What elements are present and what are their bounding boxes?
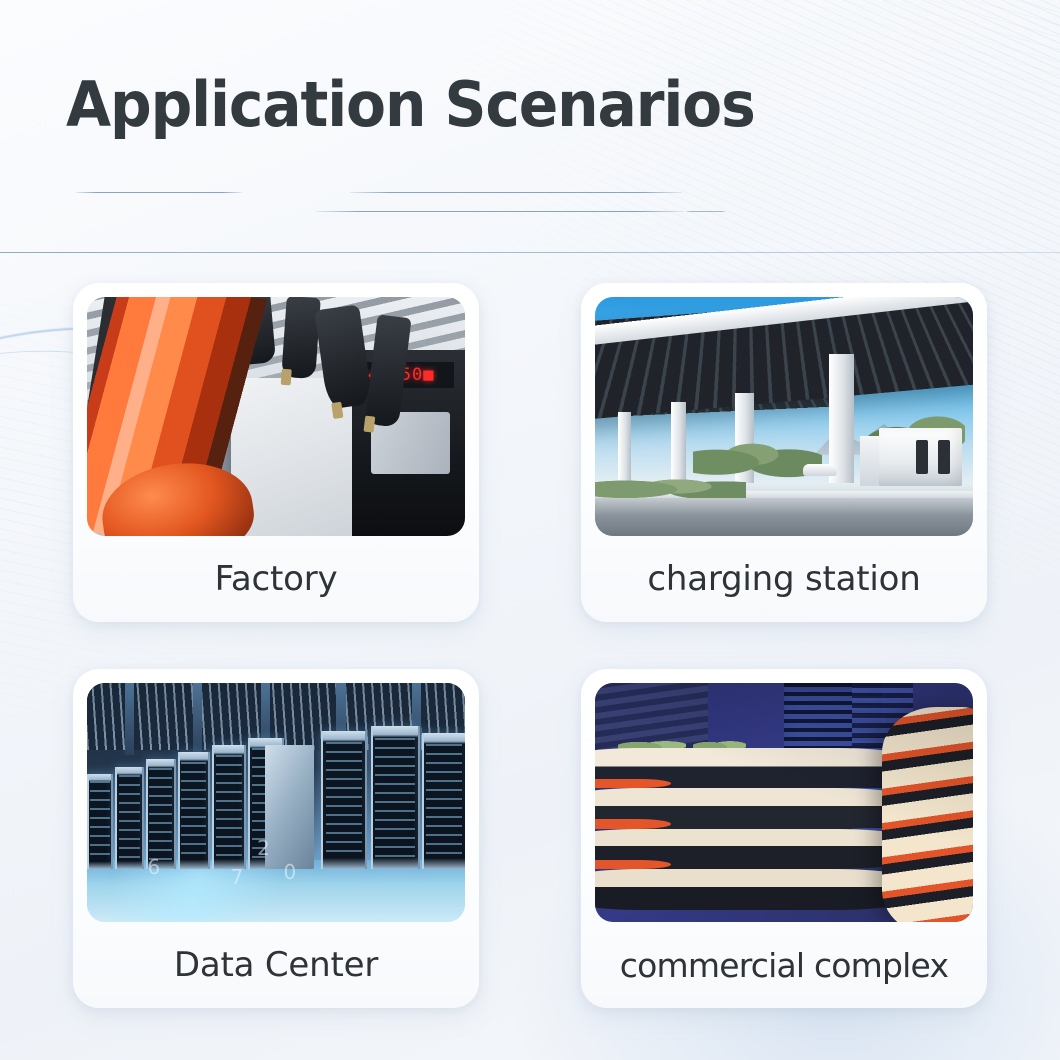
card-label-data-center: Data Center <box>87 922 465 1008</box>
scenario-card-factory[interactable]: ◀D150■ Factory <box>73 283 479 622</box>
card-label-factory: Factory <box>87 536 465 622</box>
page-header: Application Scenarios <box>0 0 1060 252</box>
scenario-card-charging-station[interactable]: charging station <box>581 283 987 622</box>
scenario-card-commercial-complex[interactable]: commercial complex <box>581 669 987 1008</box>
decorative-line-1 <box>76 192 242 193</box>
scenario-card-grid: ◀D150■ Factory <box>73 283 987 1008</box>
card-label-commercial-complex: commercial complex <box>595 922 973 1008</box>
decorative-line-4 <box>686 211 726 212</box>
card-label-charging-station: charging station <box>595 536 973 622</box>
header-separator-rule <box>0 252 1060 253</box>
decorative-line-2 <box>350 192 682 193</box>
scenario-card-data-center[interactable]: 2 6 0 7 Data Center <box>73 669 479 1008</box>
page-title: Application Scenarios <box>66 68 755 141</box>
decorative-line-3 <box>316 211 684 212</box>
data-center-image: 2 6 0 7 <box>87 683 465 922</box>
charging-station-image <box>595 297 973 536</box>
factory-image: ◀D150■ <box>87 297 465 536</box>
commercial-complex-image <box>595 683 973 922</box>
